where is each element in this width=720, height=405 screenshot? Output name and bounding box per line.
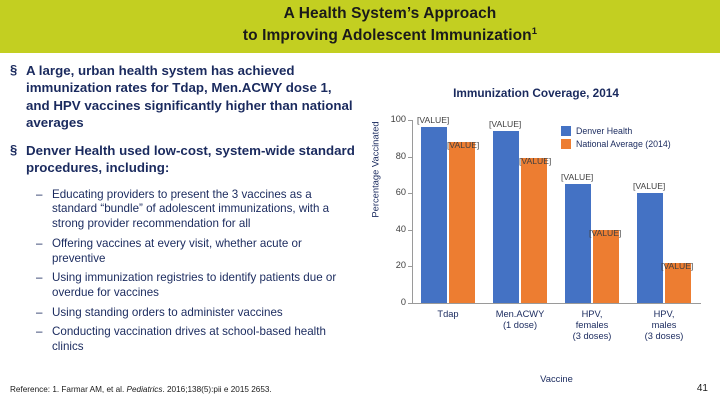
sub-bullet-marker: – — [36, 188, 42, 203]
reference-note: Reference: 1. Farmar AM, et al. Pediatri… — [10, 385, 272, 394]
bar-national-average — [521, 158, 547, 303]
sub-bullet-list: – Educating providers to present the 3 v… — [10, 188, 355, 355]
reference-prefix: Reference: 1. Farmar AM, et al. — [10, 385, 127, 394]
bullet-item-2: § Denver Health used low-cost, system-wi… — [10, 142, 355, 177]
x-axis-category-line: Tdap — [412, 309, 484, 320]
immunization-coverage-chart: Immunization Coverage, 2014 Percentage V… — [356, 86, 716, 391]
bar-value-label: [VALUE] — [589, 228, 621, 238]
x-axis-category-line: HPV, — [628, 309, 700, 320]
x-axis-category-label: HPV,males(3 doses) — [628, 309, 700, 342]
title-line-1: A Health System’s Approach — [284, 5, 497, 22]
sub-bullet-marker: – — [36, 325, 42, 340]
bar-national-average — [593, 230, 619, 303]
page-title: A Health System’s Approach to Improving … — [110, 3, 670, 47]
sub-bullet-marker: – — [36, 306, 42, 321]
bar-value-label: [VALUE] — [489, 119, 521, 129]
y-axis-tick-mark — [408, 120, 412, 121]
sub-bullet-item-2-text: Offering vaccines at every visit, whethe… — [52, 237, 302, 265]
y-axis-tick-mark — [408, 157, 412, 158]
legend-swatch-icon — [561, 126, 571, 136]
sub-bullet-item-5-text: Conducting vaccination drives at school-… — [52, 325, 326, 353]
bullet-item-1-text: A large, urban health system has achieve… — [26, 63, 353, 130]
bar-denver-health — [421, 127, 447, 303]
legend-label-denver-health: Denver Health — [576, 126, 632, 136]
bar-value-label: [VALUE] — [519, 156, 551, 166]
y-axis-tick-mark — [408, 230, 412, 231]
sub-bullet-item-5: – Conducting vaccination drives at schoo… — [36, 325, 355, 354]
bar-denver-health — [637, 193, 663, 303]
bar-value-label: [VALUE] — [561, 172, 593, 182]
x-axis-category-line: males — [628, 320, 700, 331]
x-axis-category-line: (3 doses) — [628, 331, 700, 342]
bullet-item-2-text: Denver Health used low-cost, system-wide… — [26, 143, 355, 175]
y-axis-tick-label: 60 — [372, 187, 406, 197]
bar-denver-health — [565, 184, 591, 303]
x-axis-title: Vaccine — [412, 373, 701, 384]
x-axis-category-line: Men.ACWY — [484, 309, 556, 320]
y-axis-tick-label: 20 — [372, 260, 406, 270]
sub-bullet-item-4: – Using standing orders to administer va… — [36, 306, 355, 321]
y-axis-tick-label: 0 — [372, 297, 406, 307]
sub-bullet-marker: – — [36, 271, 42, 286]
y-axis-tick-mark — [408, 266, 412, 267]
sub-bullet-marker: – — [36, 237, 42, 252]
x-axis-category-label: Men.ACWY(1 dose) — [484, 309, 556, 331]
y-axis-tick-label: 100 — [372, 114, 406, 124]
y-axis-tick-mark — [408, 193, 412, 194]
sub-bullet-item-3-text: Using immunization registries to identif… — [52, 271, 336, 299]
sub-bullet-item-4-text: Using standing orders to administer vacc… — [52, 306, 283, 319]
bullet-list: § A large, urban health system has achie… — [10, 62, 355, 360]
bullet-marker: § — [10, 142, 17, 159]
title-line-2: to Improving Adolescent Immunization — [243, 27, 532, 44]
x-axis-category-label: HPV,females(3 doses) — [556, 309, 628, 342]
x-axis-category-line: (1 dose) — [484, 320, 556, 331]
sub-bullet-item-3: – Using immunization registries to ident… — [36, 271, 355, 300]
bar-national-average — [449, 142, 475, 303]
x-axis-category-line: HPV, — [556, 309, 628, 320]
bullet-marker: § — [10, 62, 17, 79]
reference-suffix: . 2016;138(5):pii e 2015 2653. — [162, 385, 271, 394]
x-axis-line — [412, 303, 701, 304]
sub-bullet-item-1: – Educating providers to present the 3 v… — [36, 188, 355, 232]
legend-item-denver-health: Denver Health — [561, 126, 671, 136]
title-banner: A Health System’s Approach to Improving … — [0, 0, 720, 53]
sub-bullet-item-2: – Offering vaccines at every visit, whet… — [36, 237, 355, 266]
y-axis-tick-label: 40 — [372, 224, 406, 234]
legend-swatch-icon — [561, 139, 571, 149]
bar-value-label: [VALUE] — [661, 261, 693, 271]
x-axis-category-line: (3 doses) — [556, 331, 628, 342]
legend-label-national-average: National Average (2014) — [576, 139, 671, 149]
x-axis-category-label: Tdap — [412, 309, 484, 320]
bar-value-label: [VALUE] — [417, 115, 449, 125]
bar-denver-health — [493, 131, 519, 303]
y-axis-tick-mark — [408, 303, 412, 304]
sub-bullet-item-1-text: Educating providers to present the 3 vac… — [52, 188, 329, 230]
bullet-item-1: § A large, urban health system has achie… — [10, 62, 355, 131]
chart-title: Immunization Coverage, 2014 — [356, 86, 716, 100]
reference-journal: Pediatrics — [127, 385, 163, 394]
bar-value-label: [VALUE] — [633, 181, 665, 191]
y-axis-tick-label: 80 — [372, 151, 406, 161]
x-axis-category-line: females — [556, 320, 628, 331]
title-superscript: 1 — [532, 26, 537, 37]
chart-legend: Denver Health National Average (2014) — [561, 126, 671, 152]
bar-value-label: [VALUE] — [447, 140, 479, 150]
legend-item-national-average: National Average (2014) — [561, 139, 671, 149]
